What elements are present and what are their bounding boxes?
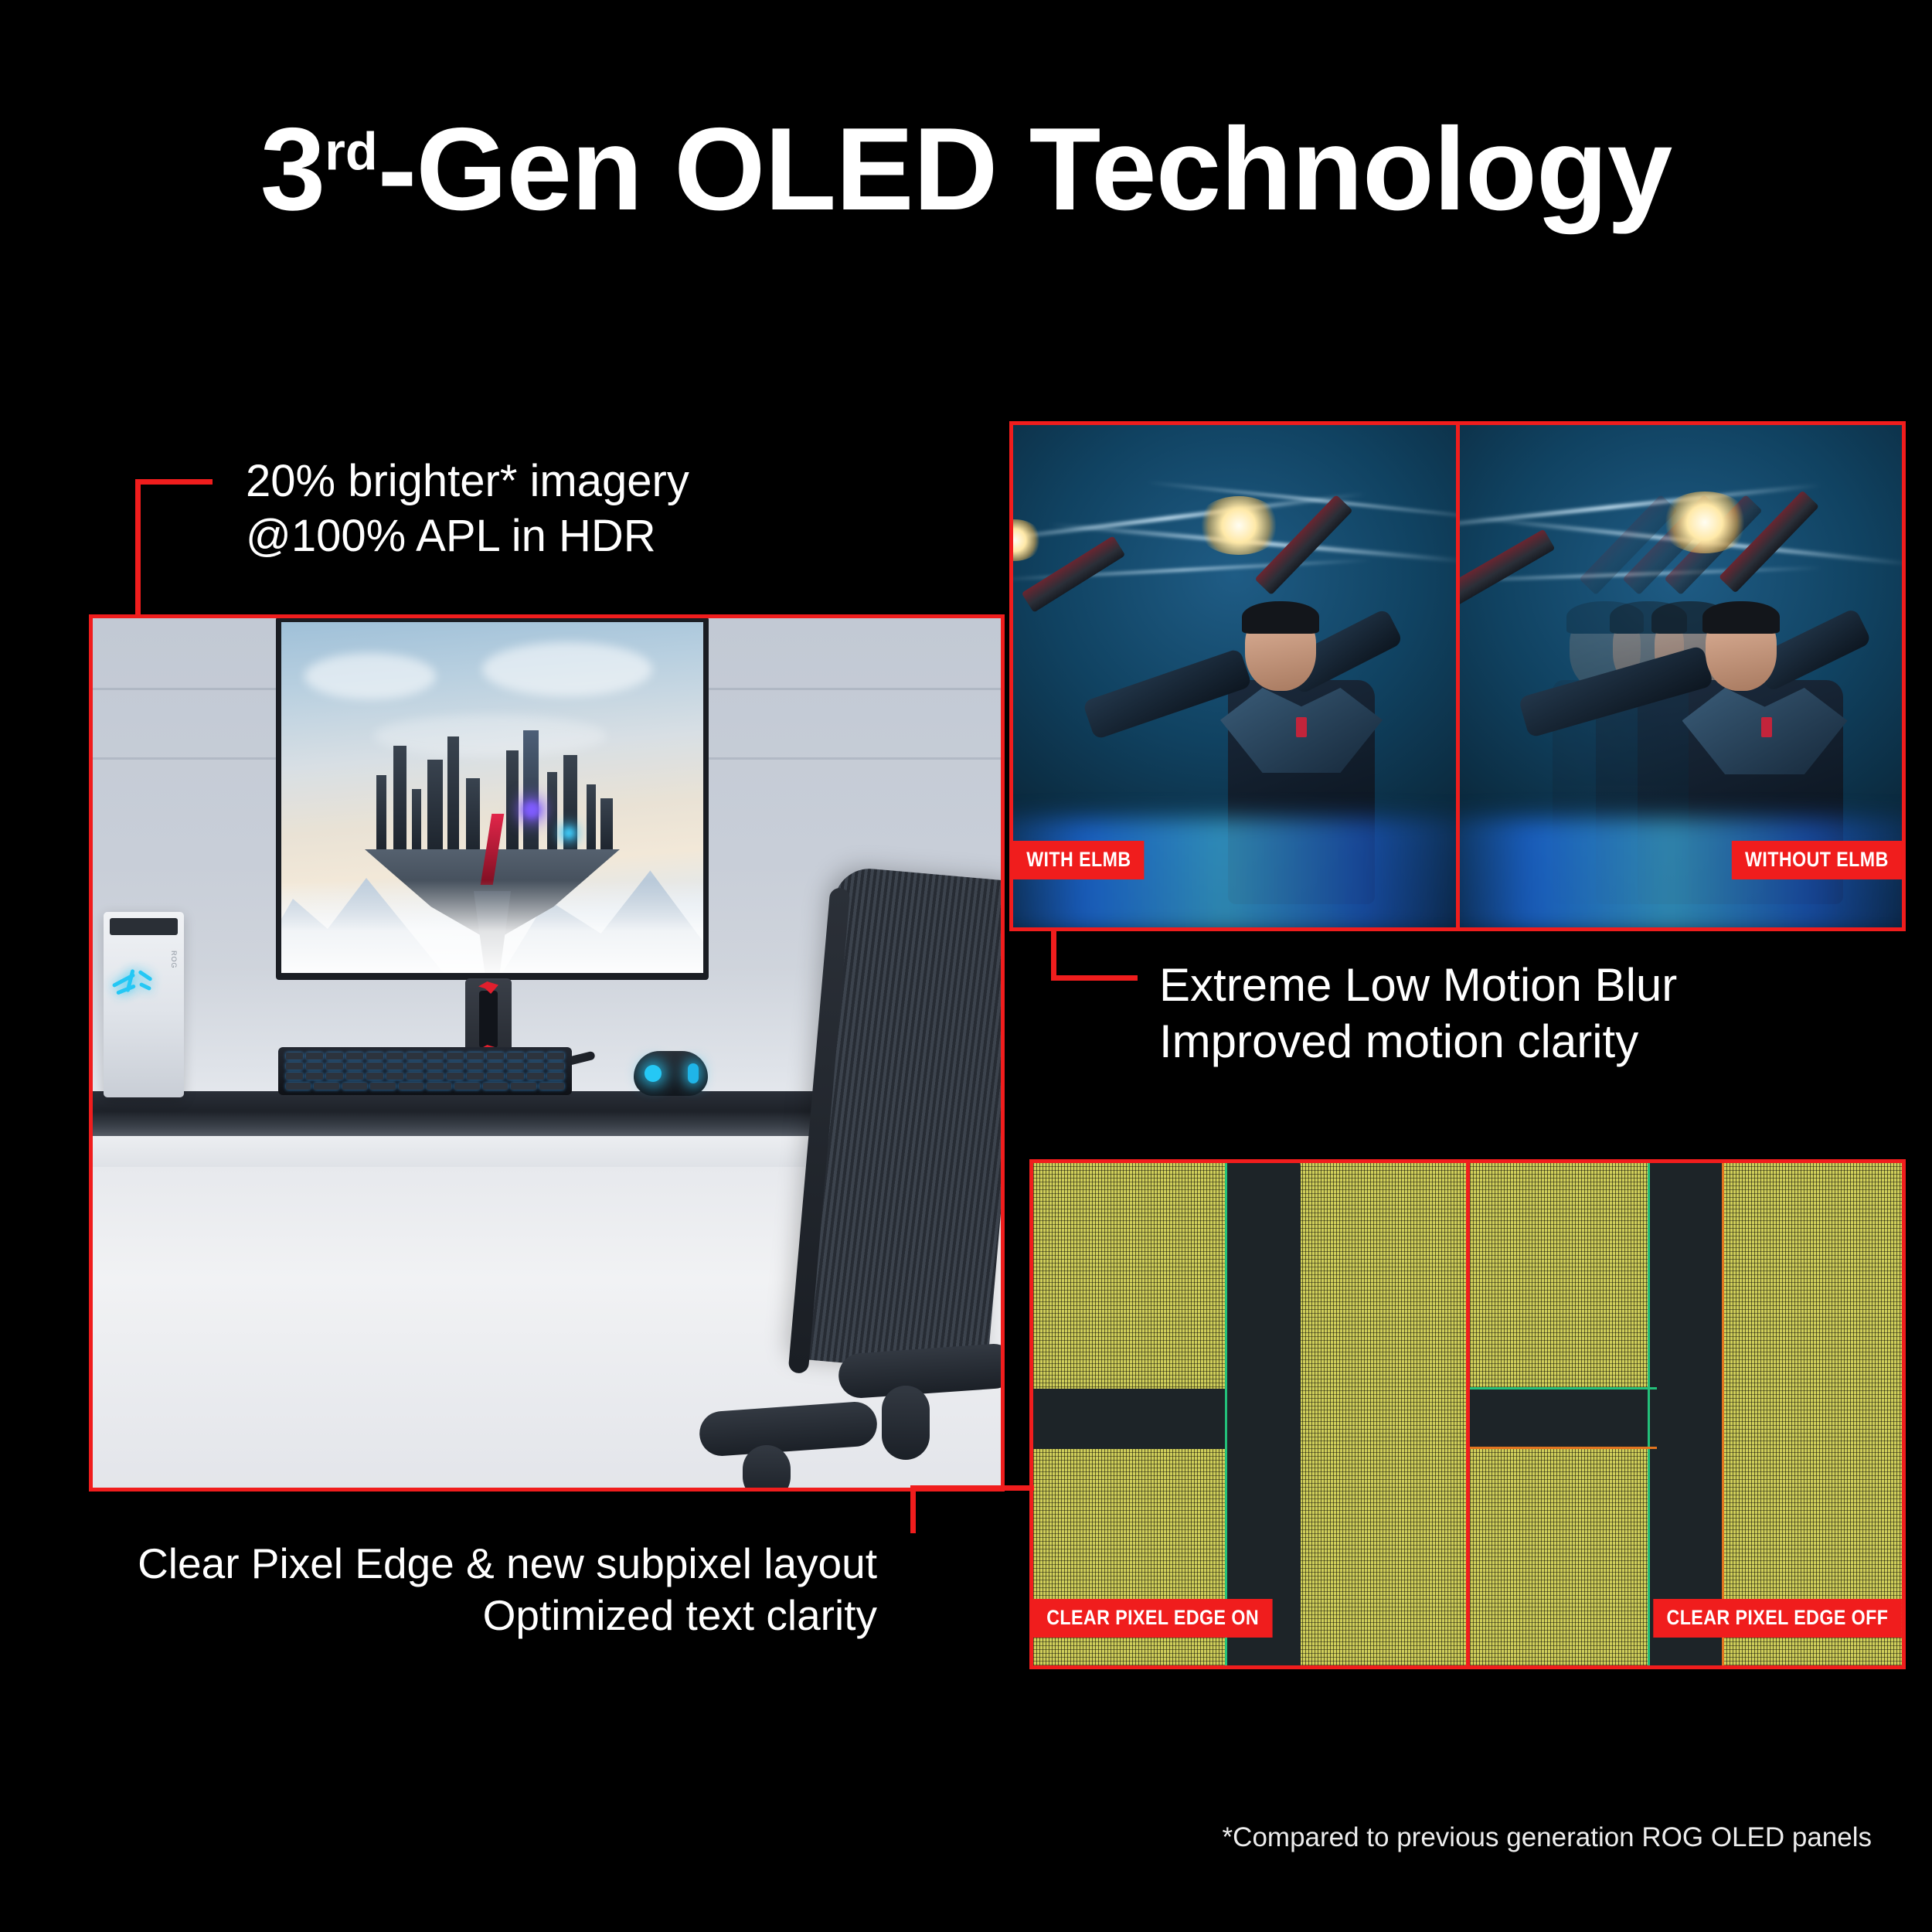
callout-brightness: 20% brighter* imagery @100% APL in HDR: [246, 454, 689, 564]
rog-router-device: ROG: [104, 912, 184, 1097]
office-chair: [769, 873, 1005, 1492]
rog-logo-icon: [108, 961, 158, 1005]
page-title: 3rd-Gen OLED Technology: [0, 108, 1932, 232]
callout-pixel: Clear Pixel Edge & new subpixel layout O…: [138, 1538, 877, 1641]
gaming-mouse: [634, 1051, 708, 1096]
gaming-keyboard: [278, 1047, 572, 1095]
callout-pixel-line2: Optimized text clarity: [138, 1590, 877, 1641]
clear-pixel-edge-panel: CLEAR PIXEL EDGE ON CLEAR PIXEL EDGE OFF: [1029, 1159, 1906, 1669]
room-background: ROG: [93, 618, 1001, 1488]
desk-setup-photo: ROG: [89, 614, 1005, 1492]
brightness-connector: [135, 479, 220, 622]
infographic-root: 3rd-Gen OLED Technology 20% brighter* im…: [0, 0, 1932, 1932]
badge-with-elmb: WITH ELMB: [1013, 841, 1145, 879]
elmb-off-image: WITHOUT ELMB: [1456, 425, 1903, 927]
pixel-connector: [910, 1485, 1034, 1539]
gaming-monitor: [276, 617, 709, 980]
footnote: *Compared to previous generation ROG OLE…: [1223, 1822, 1872, 1853]
elmb-comparison-panel: WITH ELMB: [1009, 421, 1906, 931]
badge-cpe-on: CLEAR PIXEL EDGE ON: [1033, 1599, 1272, 1638]
badge-cpe-off: CLEAR PIXEL EDGE OFF: [1654, 1599, 1902, 1638]
clear-pixel-edge-off-image: CLEAR PIXEL EDGE OFF: [1466, 1163, 1903, 1665]
router-label: ROG: [161, 951, 178, 969]
title-ordinal: rd: [325, 122, 377, 181]
callout-brightness-line2: @100% APL in HDR: [246, 509, 689, 564]
motion-connector: [1051, 931, 1144, 985]
monitor-screen-content: [281, 622, 703, 973]
title-number: 3: [260, 104, 325, 235]
callout-motion-line1: Extreme Low Motion Blur: [1159, 957, 1677, 1013]
floating-city: [353, 738, 631, 893]
callout-motion-line2: Improved motion clarity: [1159, 1013, 1677, 1070]
callout-motion: Extreme Low Motion Blur Improved motion …: [1159, 957, 1677, 1070]
clear-pixel-edge-on-image: CLEAR PIXEL EDGE ON: [1033, 1163, 1466, 1665]
badge-without-elmb: WITHOUT ELMB: [1732, 841, 1902, 879]
callout-pixel-line1: Clear Pixel Edge & new subpixel layout: [138, 1538, 877, 1590]
title-rest: -Gen OLED Technology: [378, 104, 1672, 235]
elmb-on-image: WITH ELMB: [1013, 425, 1456, 927]
callout-brightness-line1: 20% brighter* imagery: [246, 454, 689, 509]
